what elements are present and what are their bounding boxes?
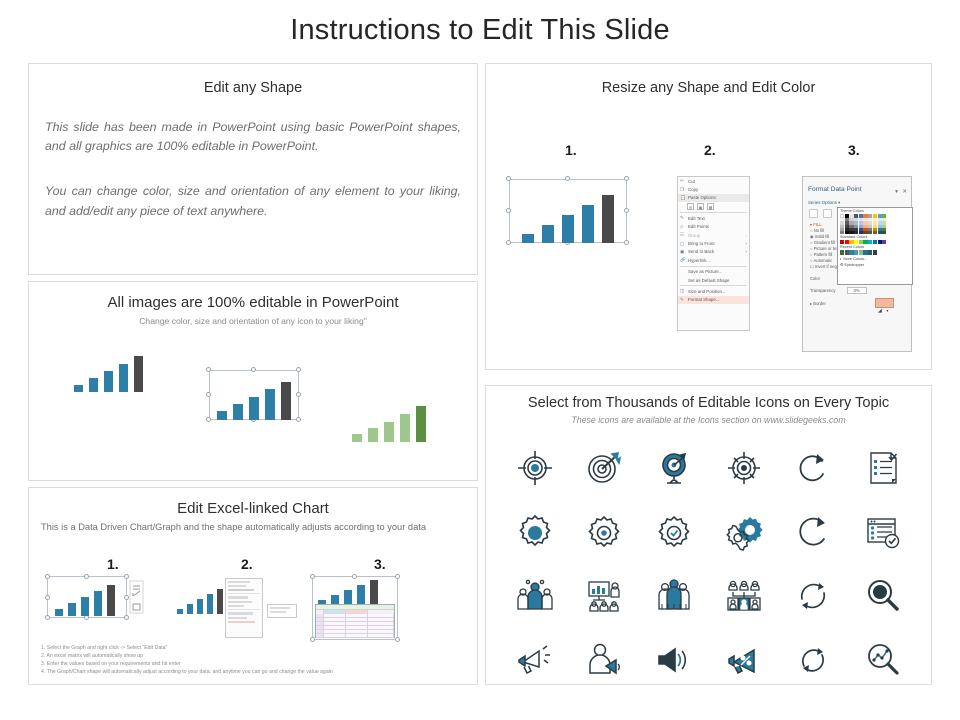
- series-options-label[interactable]: Series Options ▾: [803, 198, 911, 206]
- panel-b-title: All images are 100% editable in PowerPoi…: [29, 294, 477, 311]
- fill-bucket-icon[interactable]: [809, 209, 818, 218]
- context-menu-item-hyperlink[interactable]: 🔗 Hyperlink...: [678, 256, 749, 264]
- bring-front-icon: ▢: [680, 241, 688, 247]
- panel-c-description: This is a Data Driven Chart/Graph and th…: [29, 517, 477, 534]
- icon-crosshair-target[interactable]: [709, 442, 779, 494]
- context-menu-item-save-as-picture[interactable]: Save as Picture...: [678, 268, 749, 276]
- context-menu[interactable]: ✂ Cut ❐ Copy 📋 Paste Options: ☰ ▣ ▩ ✎ Ed…: [677, 176, 750, 331]
- icon-magnifier-chart[interactable]: [848, 634, 918, 686]
- instruction-line: 3. Enter the values based on your requir…: [41, 661, 333, 669]
- chevron-down-icon: ▾: [810, 222, 812, 227]
- icon-person-megaphone[interactable]: [570, 634, 640, 686]
- edit-points-icon: ◇: [680, 224, 688, 230]
- chevron-down-icon[interactable]: ▾: [895, 189, 898, 195]
- resize-handle-w[interactable]: [506, 208, 511, 213]
- icon-circular-arrow[interactable]: [779, 506, 849, 558]
- bar: [81, 597, 89, 616]
- icon-checklist-document[interactable]: [848, 442, 918, 494]
- eyedropper-icon: ⚙: [840, 263, 843, 267]
- paste-text-icon[interactable]: ▩: [707, 203, 714, 210]
- icon-team-people[interactable]: [500, 570, 570, 622]
- bar: [104, 371, 113, 392]
- step-number-2: 2.: [241, 556, 253, 572]
- context-menu-item-paste-options[interactable]: 📋 Paste Options:: [678, 194, 749, 202]
- bar-chart-green[interactable]: [352, 402, 434, 442]
- bar: [89, 378, 98, 392]
- bar-highlight: [107, 585, 115, 616]
- context-menu-item-copy[interactable]: ❐ Copy: [678, 185, 749, 193]
- panel-edit-excel-chart: Edit Excel-linked Chart This is a Data D…: [28, 487, 478, 685]
- series-options-text: Series Options: [808, 200, 837, 205]
- menu-label: Hyperlink...: [688, 258, 710, 263]
- step-number-3: 3.: [848, 142, 860, 158]
- bar-highlight: [217, 589, 223, 614]
- panel-a-paragraph-2: You can change color, size and orientati…: [45, 182, 461, 220]
- bar: [368, 428, 378, 442]
- icon-sync-arrows[interactable]: [779, 570, 849, 622]
- resize-handle-ne[interactable]: [124, 574, 129, 579]
- bar: [582, 205, 594, 243]
- step-number-2: 2.: [704, 142, 716, 158]
- bar: [68, 603, 76, 616]
- resize-handle-w[interactable]: [45, 595, 50, 600]
- bar-highlight: [602, 195, 614, 243]
- icon-megaphone[interactable]: [500, 634, 570, 686]
- panel-editable-icons: Select from Thousands of Editable Icons …: [485, 385, 932, 685]
- icon-magnifier[interactable]: [848, 570, 918, 622]
- chevron-right-icon: ›: [746, 241, 749, 246]
- group-icon: ☷: [680, 232, 688, 238]
- eyedropper-item[interactable]: ⚙ Eyedropper: [838, 261, 912, 267]
- resize-handle-nw[interactable]: [506, 176, 511, 181]
- resize-handle-se[interactable]: [296, 417, 301, 422]
- resize-handle-n[interactable]: [84, 574, 89, 579]
- resize-handle-se[interactable]: [395, 637, 400, 642]
- border-label: Border: [813, 301, 826, 306]
- page-title: Instructions to Edit This Slide: [0, 14, 960, 47]
- fill-color-button[interactable]: ◢ ▾: [875, 298, 894, 308]
- bar: [400, 414, 410, 442]
- format-pane-title: Format Data Point: [808, 186, 862, 193]
- excel-row: [316, 634, 394, 638]
- panel-d-title: Resize any Shape and Edit Color: [486, 80, 931, 96]
- icon-group-people[interactable]: [639, 570, 709, 622]
- format-shape-icon: ✎: [680, 297, 688, 303]
- context-menu-item-group[interactable]: ☷ Group ›: [678, 231, 749, 239]
- resize-handle-nw[interactable]: [206, 367, 211, 372]
- send-back-icon: ▣: [680, 249, 688, 255]
- instruction-line: 4. The Graph/Chart shape will automatica…: [41, 669, 333, 677]
- bar-chart-small-blue[interactable]: [74, 352, 154, 392]
- panel-c-instruction-list: 1. Select the Graph and right click -> S…: [41, 645, 333, 677]
- bar: [217, 411, 227, 420]
- fill-label: FILL: [813, 222, 821, 227]
- bar-highlight: [134, 356, 143, 392]
- icon-gear-check[interactable]: [639, 506, 709, 558]
- panel-resize-edit-color: Resize any Shape and Edit Color 1. 2. 3.…: [485, 63, 932, 370]
- bar: [384, 422, 394, 442]
- edit-text-icon: ✎: [680, 215, 688, 221]
- step-number-1: 1.: [565, 142, 577, 158]
- chevron-down-icon[interactable]: ▾: [838, 200, 840, 205]
- resize-handle-se[interactable]: [124, 615, 129, 620]
- menu-label: Save as Picture...: [688, 269, 722, 274]
- bar: [233, 404, 243, 420]
- bar: [522, 234, 534, 243]
- bar: [249, 397, 259, 420]
- resize-handle-w[interactable]: [206, 392, 211, 397]
- icon-discount-megaphone[interactable]: [709, 634, 779, 686]
- bar: [562, 215, 574, 243]
- resize-handle-e[interactable]: [624, 208, 629, 213]
- bar: [197, 599, 203, 614]
- icon-presentation[interactable]: [570, 570, 640, 622]
- bar: [187, 604, 193, 614]
- copy-icon: ❐: [680, 187, 688, 193]
- bar: [542, 225, 554, 243]
- panel-c-title: Edit Excel-linked Chart: [29, 500, 477, 517]
- bar: [352, 434, 362, 442]
- menu-label: Format Shape...: [688, 297, 719, 302]
- context-menu-item-format-shape[interactable]: ✎ Format Shape...: [678, 296, 749, 304]
- menu-label: Set as Default Shape: [688, 278, 730, 283]
- paste-picture-icon[interactable]: ▣: [697, 203, 704, 210]
- bar: [265, 389, 275, 420]
- mini-context-menu[interactable]: [225, 578, 263, 638]
- bar: [177, 609, 183, 614]
- resize-handle-ne[interactable]: [395, 574, 400, 579]
- panel-a-title: Edit any Shape: [29, 80, 477, 96]
- context-menu-item-edit-points[interactable]: ◇ Edit Points: [678, 223, 749, 231]
- bar-highlight: [370, 580, 378, 606]
- step-number-1: 1.: [107, 556, 119, 572]
- resize-handle-ne[interactable]: [296, 367, 301, 372]
- mini-toolbar-icon: [129, 580, 145, 614]
- menu-label: Cut: [688, 179, 695, 184]
- step-number-3: 3.: [374, 556, 386, 572]
- resize-handle-n[interactable]: [565, 176, 570, 181]
- menu-label: Size and Position...: [688, 289, 726, 294]
- icon-dartboard-arrow[interactable]: [570, 442, 640, 494]
- icon-gear-outline[interactable]: [570, 506, 640, 558]
- resize-handle-nw[interactable]: [45, 574, 50, 579]
- icon-speaker[interactable]: [639, 634, 709, 686]
- resize-handle-n[interactable]: [352, 574, 357, 579]
- menu-label: Edit Text: [688, 216, 705, 221]
- icon-refresh-circle[interactable]: [779, 634, 849, 686]
- color-picker-popup[interactable]: Theme Colors Standard Colors: [837, 207, 913, 285]
- menu-label: Edit Points: [688, 224, 709, 229]
- hyperlink-icon: 🔗: [680, 257, 688, 263]
- resize-handle-ne[interactable]: [624, 176, 629, 181]
- resize-handle-sw[interactable]: [45, 615, 50, 620]
- bar: [94, 591, 102, 616]
- panel-e-subtitle: These icons are available at the Icons s…: [486, 415, 931, 425]
- transparency-label: Transparency: [810, 288, 835, 293]
- paint-bucket-icon: ◢: [876, 308, 882, 314]
- transparency-value[interactable]: 0%: [847, 287, 867, 294]
- bar: [55, 609, 63, 616]
- bar: [207, 594, 213, 614]
- resize-handle-sw[interactable]: [206, 417, 211, 422]
- mini-submenu[interactable]: [267, 604, 297, 618]
- close-icon[interactable]: ✕: [902, 189, 907, 195]
- icon-gear-solid[interactable]: [500, 506, 570, 558]
- icon-grid: [500, 442, 918, 686]
- clipboard-icon: 📋: [680, 195, 688, 201]
- icon-target-crosshair[interactable]: [500, 442, 570, 494]
- icon-target-stand[interactable]: [639, 442, 709, 494]
- menu-label: Paste Options:: [688, 195, 717, 200]
- bar: [357, 585, 365, 606]
- resize-handle-e[interactable]: [296, 392, 301, 397]
- bar-highlight: [416, 406, 426, 442]
- chevron-right-icon: ›: [746, 249, 749, 254]
- menu-label: Send to Back: [688, 249, 714, 254]
- chevron-right-icon: ›: [746, 233, 749, 238]
- instruction-line: 2. An excel matrix will automatically sh…: [41, 653, 333, 661]
- icon-checklist-approved[interactable]: [848, 506, 918, 558]
- icon-gears-pair[interactable]: [709, 506, 779, 558]
- panel-all-images-editable: All images are 100% editable in PowerPoi…: [28, 281, 478, 481]
- paste-keep-formatting-icon[interactable]: ☰: [687, 203, 694, 210]
- context-menu-item-size-and-position[interactable]: ◫ Size and Position...: [678, 287, 749, 295]
- scissors-icon: ✂: [680, 178, 688, 184]
- panel-a-paragraph-1: This slide has been made in PowerPoint u…: [45, 118, 461, 156]
- context-menu-item-send-to-back[interactable]: ▣ Send to Back ›: [678, 248, 749, 256]
- theme-colors-shades[interactable]: [838, 218, 912, 234]
- chevron-down-icon: ▾: [886, 308, 888, 313]
- excel-data-sheet[interactable]: [315, 604, 395, 638]
- border-section-header[interactable]: ▸ Border: [803, 294, 911, 306]
- effects-icon[interactable]: [823, 209, 832, 218]
- menu-label: Copy: [688, 187, 698, 192]
- resize-handle-n[interactable]: [251, 367, 256, 372]
- icon-refresh-arrow[interactable]: [779, 442, 849, 494]
- panel-edit-any-shape: Edit any Shape This slide has been made …: [28, 63, 478, 275]
- menu-label: Group: [688, 233, 700, 238]
- resize-handle-nw[interactable]: [310, 574, 315, 579]
- instruction-line: 1. Select the Graph and right click -> S…: [41, 645, 333, 653]
- bar: [119, 364, 128, 392]
- bar: [74, 385, 83, 392]
- bar-highlight: [281, 382, 291, 420]
- format-data-point-pane[interactable]: Format Data Point ▾ ✕ Series Options ▾ ▾…: [802, 176, 912, 352]
- context-menu-item-cut[interactable]: ✂ Cut: [678, 177, 749, 185]
- size-position-icon: ◫: [680, 288, 688, 294]
- context-menu-item-set-default-shape[interactable]: Set as Default Shape: [678, 276, 749, 284]
- panel-e-title: Select from Thousands of Editable Icons …: [486, 395, 931, 411]
- paste-option-buttons[interactable]: ☰ ▣ ▩: [678, 202, 749, 211]
- palette-icon: ◐: [840, 257, 842, 261]
- panel-b-subtitle: Change color, size and orientation of an…: [29, 316, 477, 326]
- context-menu-item-bring-to-front[interactable]: ▢ Bring to Front ›: [678, 239, 749, 247]
- menu-label: Bring to Front: [688, 241, 715, 246]
- icon-org-chart[interactable]: [709, 570, 779, 622]
- resize-handle-se[interactable]: [624, 240, 629, 245]
- context-menu-item-edit-text[interactable]: ✎ Edit Text: [678, 214, 749, 222]
- chevron-right-icon: ▸: [810, 301, 812, 306]
- resize-handle-sw[interactable]: [506, 240, 511, 245]
